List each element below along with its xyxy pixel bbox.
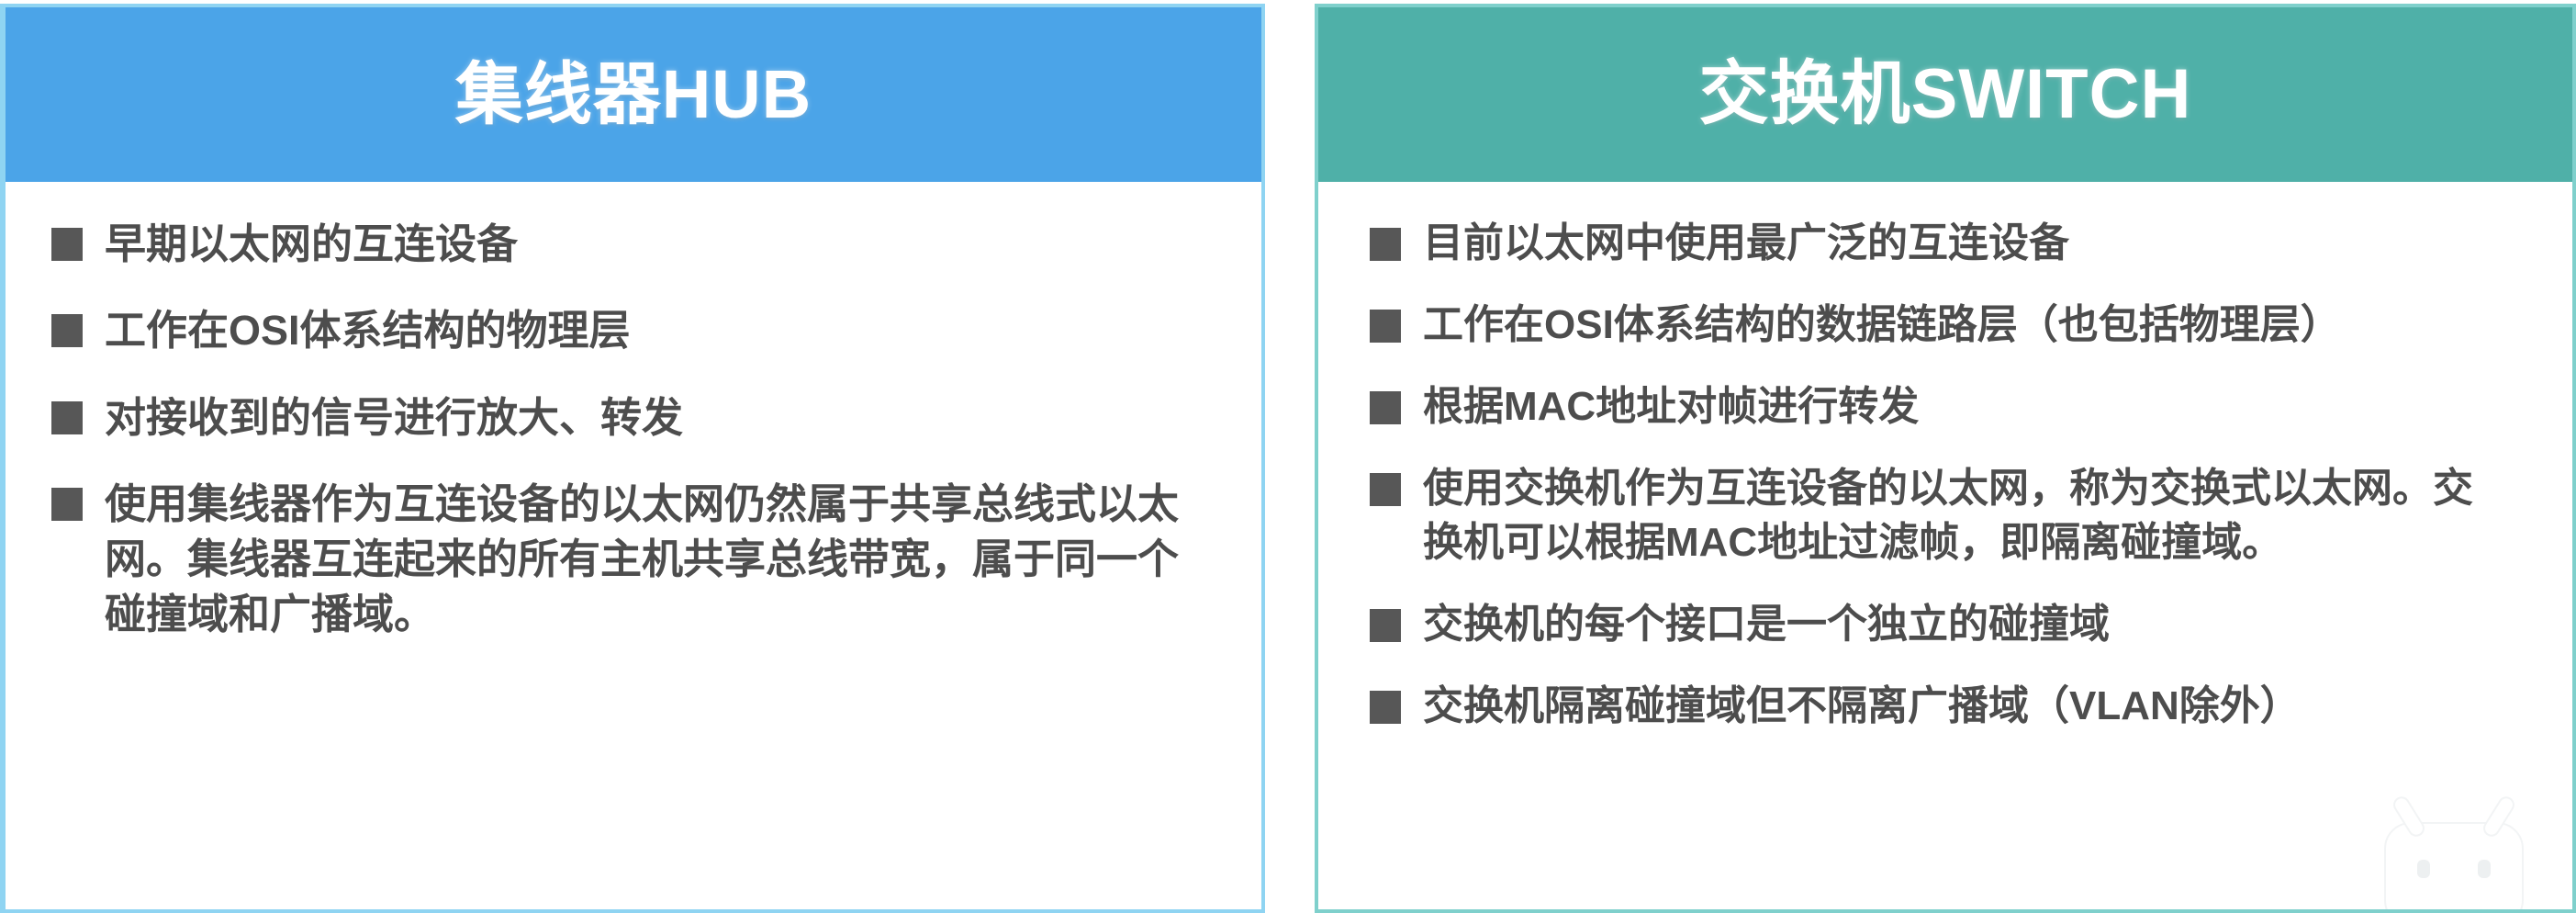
square-bullet-icon	[1370, 391, 1401, 424]
square-bullet-icon	[51, 488, 83, 521]
square-bullet-icon	[51, 314, 83, 347]
square-bullet-icon	[51, 401, 83, 434]
list-item-label: 目前以太网中使用最广泛的互连设备	[1423, 217, 2069, 271]
list-item: 工作在OSI体系结构的物理层	[51, 303, 1221, 358]
list-item: 交换机的每个接口是一个独立的碰撞域	[1370, 598, 2541, 652]
list-item: 目前以太网中使用最广泛的互连设备	[1370, 217, 2541, 271]
list-item-label: 根据MAC地址对帧进行转发	[1423, 380, 1919, 434]
panel-switch: 交换机SWITCH 目前以太网中使用最广泛的互连设备 工作在OSI体系结构的数据…	[1315, 4, 2576, 913]
list-item: 使用集线器作为互连设备的以太网仍然属于共享总线式以太网。集线器互连起来的所有主机…	[51, 477, 1221, 643]
panel-hub-title: 集线器HUB	[455, 61, 812, 129]
square-bullet-icon	[1370, 310, 1401, 343]
panel-switch-title: 交换机SWITCH	[1699, 60, 2192, 130]
list-item-label: 早期以太网的互连设备	[105, 217, 518, 272]
panel-switch-header: 交换机SWITCH	[1318, 7, 2572, 182]
square-bullet-icon	[1370, 228, 1401, 261]
list-item-label: 对接收到的信号进行放大、转发	[105, 390, 683, 445]
panel-hub-header: 集线器HUB	[6, 7, 1261, 182]
list-item: 根据MAC地址对帧进行转发	[1370, 380, 2541, 434]
panel-hub-body: 早期以太网的互连设备 工作在OSI体系结构的物理层 对接收到的信号进行放大、转发…	[6, 182, 1261, 909]
list-item-label: 交换机隔离碰撞域但不隔离广播域（VLAN除外）	[1423, 680, 2301, 734]
square-bullet-icon	[1370, 473, 1401, 506]
panel-switch-bullet-list: 目前以太网中使用最广泛的互连设备 工作在OSI体系结构的数据链路层（也包括物理层…	[1370, 217, 2541, 734]
square-bullet-icon	[1370, 609, 1401, 642]
list-item-label: 使用集线器作为互连设备的以太网仍然属于共享总线式以太网。集线器互连起来的所有主机…	[105, 477, 1197, 643]
list-item: 工作在OSI体系结构的数据链路层（也包括物理层）	[1370, 299, 2541, 353]
list-item-label: 工作在OSI体系结构的数据链路层（也包括物理层）	[1423, 299, 2341, 353]
list-item-label: 交换机的每个接口是一个独立的碰撞域	[1423, 598, 2110, 652]
list-item: 对接收到的信号进行放大、转发	[51, 390, 1221, 445]
list-item: 早期以太网的互连设备	[51, 217, 1221, 272]
list-item: 交换机隔离碰撞域但不隔离广播域（VLAN除外）	[1370, 680, 2541, 734]
list-item-label: 使用交换机作为互连设备的以太网，称为交换式以太网。交换机可以根据MAC地址过滤帧…	[1423, 462, 2502, 570]
panel-hub: 集线器HUB 早期以太网的互连设备 工作在OSI体系结构的物理层 对接收到的信号…	[0, 4, 1265, 913]
panel-hub-bullet-list: 早期以太网的互连设备 工作在OSI体系结构的物理层 对接收到的信号进行放大、转发…	[51, 217, 1221, 643]
list-item-label: 工作在OSI体系结构的物理层	[105, 303, 631, 358]
list-item: 使用交换机作为互连设备的以太网，称为交换式以太网。交换机可以根据MAC地址过滤帧…	[1370, 462, 2541, 570]
tv-logo-watermark-icon	[2367, 788, 2541, 913]
square-bullet-icon	[1370, 691, 1401, 724]
comparison-slide: 集线器HUB 早期以太网的互连设备 工作在OSI体系结构的物理层 对接收到的信号…	[0, 0, 2576, 913]
square-bullet-icon	[51, 228, 83, 261]
panel-switch-body: 目前以太网中使用最广泛的互连设备 工作在OSI体系结构的数据链路层（也包括物理层…	[1318, 182, 2572, 909]
